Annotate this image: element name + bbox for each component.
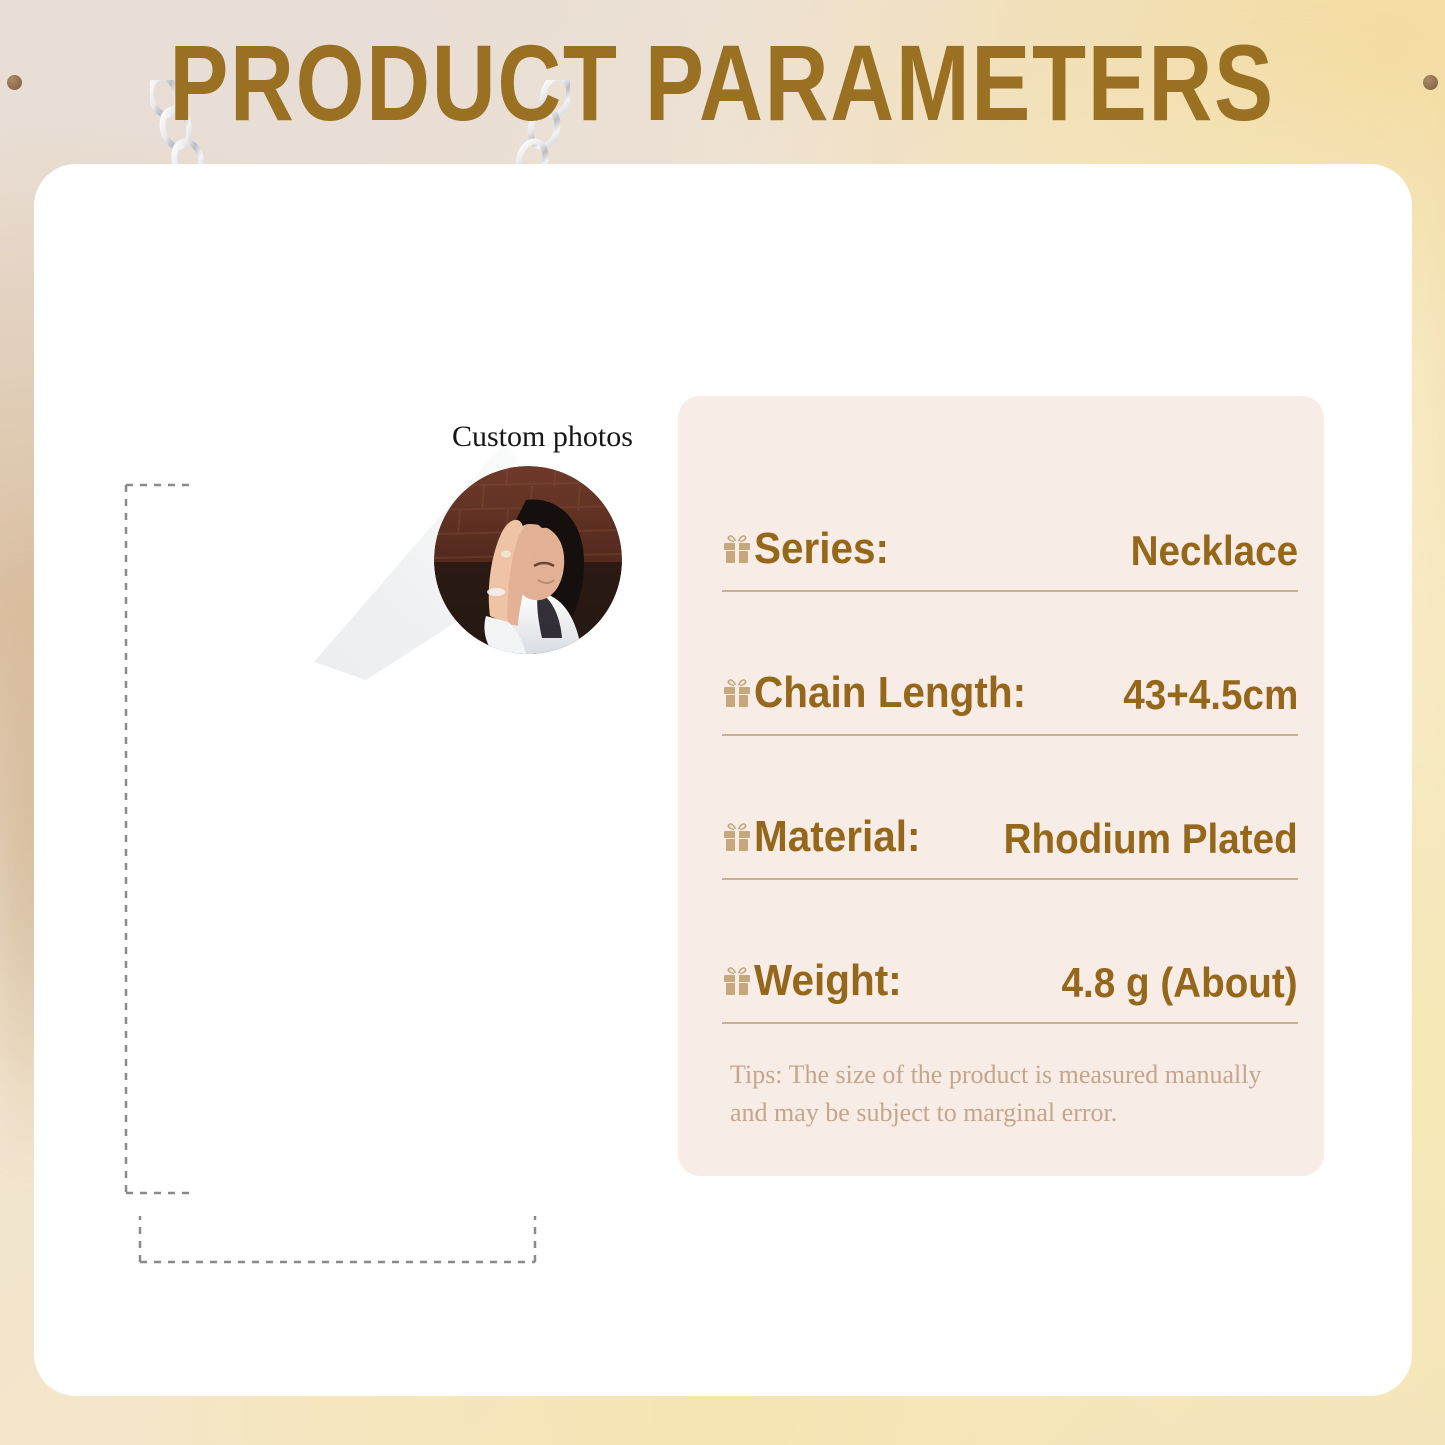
gift-icon	[722, 533, 752, 565]
parameter-label: Chain Length:	[754, 668, 1026, 718]
parameter-value: 43+4.5cm	[1123, 671, 1298, 719]
parameter-value: 4.8 g (About)	[1062, 959, 1298, 1007]
parameter-rows: Series: Necklace	[722, 518, 1298, 1094]
parameter-row-series: Series: Necklace	[722, 518, 1298, 662]
parameter-value: Rhodium Plated	[1004, 815, 1298, 863]
parameter-row-chain-length: Chain Length: 43+4.5cm	[722, 662, 1298, 806]
gift-icon	[722, 965, 752, 997]
product-illustration: Custom photos	[0, 0, 700, 1232]
row-divider	[722, 590, 1298, 592]
parameters-panel: Series: Necklace	[678, 396, 1324, 1176]
gift-icon	[722, 677, 752, 709]
parameter-label: Material:	[754, 812, 920, 862]
row-divider	[722, 878, 1298, 880]
parameter-label: Series:	[754, 524, 889, 574]
parameter-row-material: Material: Rhodium Plated	[722, 806, 1298, 950]
title-right-dot-icon	[1423, 75, 1438, 90]
tips-note: Tips: The size of the product is measure…	[730, 1056, 1286, 1131]
infographic-stage: PRODUCT PARAMETERS	[0, 0, 1445, 1445]
gift-icon	[722, 821, 752, 853]
row-divider	[722, 734, 1298, 736]
dimension-guides	[0, 0, 700, 1345]
row-divider	[722, 1022, 1298, 1024]
parameter-value: Necklace	[1130, 527, 1298, 575]
parameter-label: Weight:	[754, 956, 902, 1006]
